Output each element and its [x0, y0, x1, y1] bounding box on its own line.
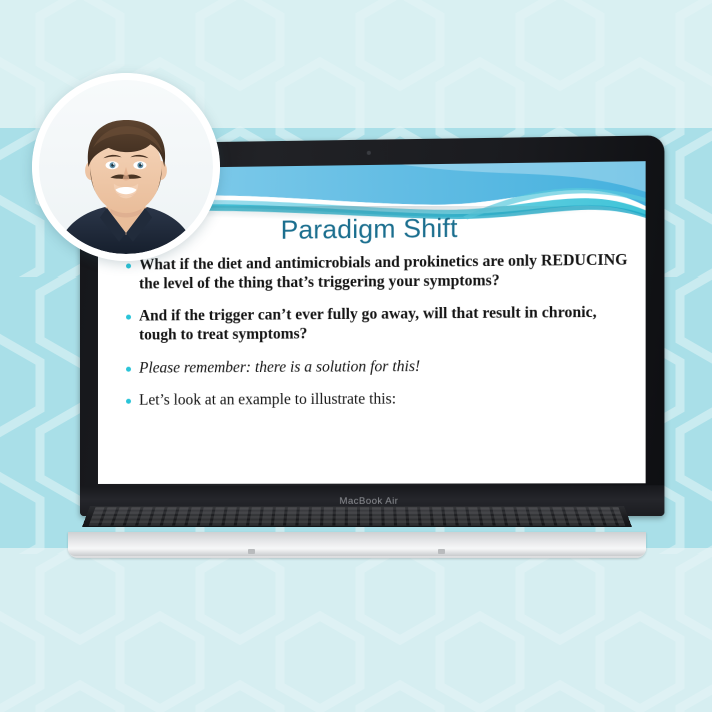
- keyboard-keys: [89, 507, 626, 525]
- keyboard: [82, 506, 632, 527]
- laptop-body: [68, 532, 646, 558]
- slide-bullet-list: What if the diet and antimicrobials and …: [126, 251, 629, 424]
- slide-bullet-text: Please remember: there is a solution for…: [139, 358, 420, 378]
- slide-bullet-text: And if the trigger can’t ever fully go a…: [139, 304, 629, 345]
- portrait-ring: [32, 73, 220, 261]
- slide-bullet-item: Let’s look at an example to illustrate t…: [126, 390, 629, 411]
- laptop-foot-right: [438, 549, 445, 554]
- slide-bullet-item: Please remember: there is a solution for…: [126, 356, 629, 378]
- bullet-dot-icon: [126, 366, 131, 371]
- laptop-front-lip: [68, 549, 646, 556]
- screenshot-canvas: Paradigm Shift What if the diet and anti…: [0, 0, 712, 712]
- laptop-base: [62, 506, 652, 568]
- laptop-foot-left: [248, 549, 255, 554]
- slide-bullet-text: What if the diet and antimicrobials and …: [139, 251, 629, 293]
- slide-bullet-text: Let’s look at an example to illustrate t…: [139, 391, 396, 411]
- bullet-dot-icon: [126, 315, 131, 320]
- bullet-dot-icon: [126, 263, 131, 268]
- bullet-dot-icon: [126, 399, 131, 404]
- webcam-icon: [367, 151, 371, 155]
- slide-bullet-item: And if the trigger can’t ever fully go a…: [126, 304, 629, 346]
- slide-bullet-item: What if the diet and antimicrobials and …: [126, 251, 629, 294]
- presenter-portrait: [32, 73, 220, 261]
